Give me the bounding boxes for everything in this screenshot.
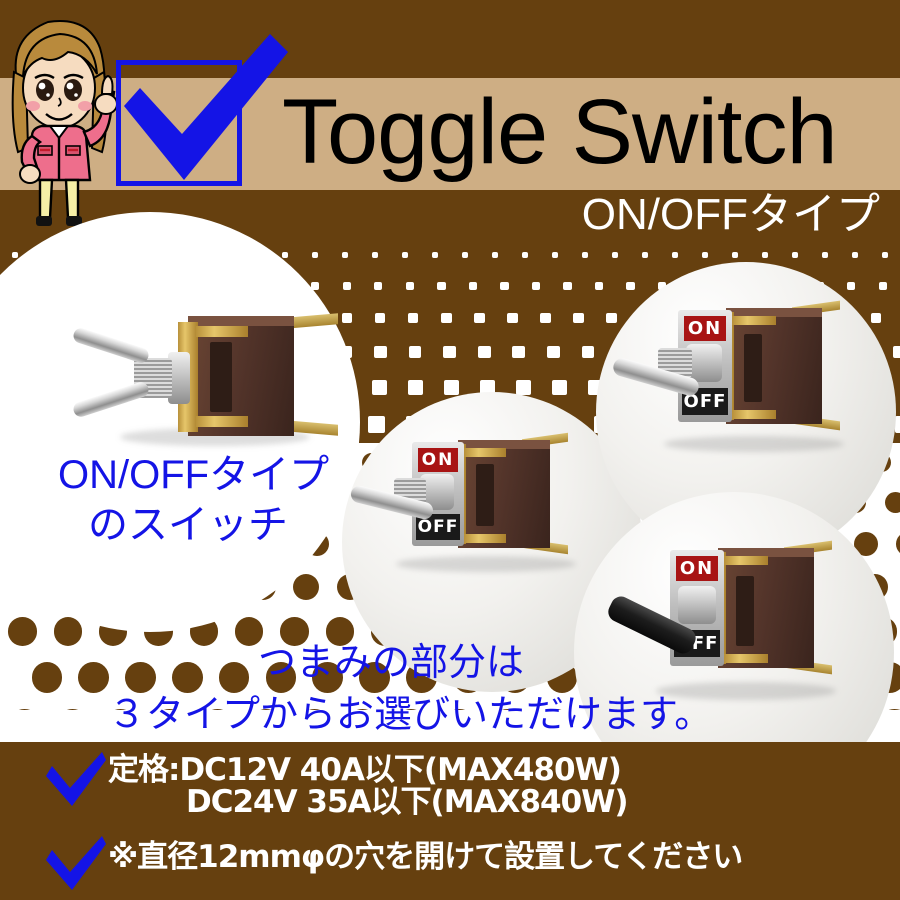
dot bbox=[500, 282, 508, 290]
dot bbox=[12, 252, 18, 258]
caption-mid-line1: つまみの部分は bbox=[258, 640, 524, 686]
switch-photo-pin-dual bbox=[60, 300, 340, 450]
dot bbox=[312, 252, 318, 258]
dot bbox=[408, 380, 423, 395]
dot bbox=[406, 282, 414, 290]
blue-check-icon bbox=[44, 752, 108, 808]
dot bbox=[563, 282, 571, 290]
dot bbox=[343, 282, 351, 290]
dot bbox=[573, 313, 583, 323]
dot bbox=[374, 282, 382, 290]
dot bbox=[219, 662, 250, 693]
dot bbox=[612, 252, 618, 258]
dot bbox=[374, 346, 387, 359]
dot bbox=[293, 574, 319, 600]
dot bbox=[432, 252, 438, 258]
dot bbox=[762, 252, 768, 258]
dot bbox=[8, 617, 36, 645]
blue-check-icon bbox=[44, 836, 108, 892]
dot bbox=[478, 346, 491, 359]
dot bbox=[672, 252, 678, 258]
caption-left-line2: のスイッチ bbox=[88, 502, 288, 548]
blue-check-icon bbox=[120, 30, 290, 190]
dot bbox=[540, 313, 550, 323]
dot bbox=[896, 532, 900, 556]
dot bbox=[78, 662, 109, 693]
dot bbox=[582, 252, 588, 258]
dot bbox=[822, 252, 828, 258]
dot bbox=[56, 709, 89, 710]
dot bbox=[516, 380, 531, 395]
dot bbox=[409, 346, 422, 359]
dot bbox=[732, 252, 738, 258]
dot bbox=[893, 346, 900, 359]
dot bbox=[408, 313, 418, 323]
dot bbox=[462, 252, 468, 258]
dot bbox=[372, 252, 378, 258]
dot bbox=[125, 662, 156, 693]
dot bbox=[444, 380, 459, 395]
page-subtitle: ON/OFFタイプ bbox=[400, 190, 880, 240]
dot bbox=[792, 252, 798, 258]
dot bbox=[626, 282, 634, 290]
dot bbox=[512, 346, 525, 359]
switch-photo-chrome-upper: ON OFF bbox=[636, 300, 886, 460]
dot bbox=[852, 252, 858, 258]
dot bbox=[547, 346, 560, 359]
dot bbox=[642, 252, 648, 258]
dot bbox=[532, 282, 540, 290]
dot bbox=[342, 252, 348, 258]
female-staff-character-icon bbox=[2, 12, 118, 240]
dot bbox=[885, 492, 900, 514]
spec-rating-line2: DC24V 35A以下(MAX840W) bbox=[186, 784, 628, 820]
dot bbox=[32, 662, 63, 693]
dot bbox=[507, 313, 517, 323]
dot bbox=[595, 282, 603, 290]
dot bbox=[474, 313, 484, 323]
dot bbox=[469, 282, 477, 290]
spec-rating-line1: 定格:DC12V 40A以下(MAX480W) bbox=[108, 752, 621, 788]
caption-left-line1: ON/OFFタイプ bbox=[58, 452, 329, 498]
dot bbox=[522, 252, 528, 258]
dot bbox=[282, 252, 288, 258]
dot bbox=[879, 282, 887, 290]
caption-mid-line2: ３タイプからお選びいただけます。 bbox=[108, 692, 712, 738]
advertisement-banner: Toggle Switch ON/OFFタイプ bbox=[0, 0, 900, 900]
dot bbox=[54, 617, 82, 645]
dot bbox=[702, 252, 708, 258]
dot bbox=[437, 282, 445, 290]
dot bbox=[372, 380, 387, 395]
dot bbox=[172, 662, 203, 693]
page-title: Toggle Switch bbox=[282, 72, 892, 192]
dot bbox=[847, 282, 855, 290]
switch-photo-chrome-middle: ON OFF bbox=[372, 430, 622, 580]
dot bbox=[342, 313, 352, 323]
switch-on-label: ON bbox=[676, 556, 718, 581]
dot bbox=[8, 709, 41, 710]
switch-on-label: ON bbox=[684, 316, 726, 341]
dot bbox=[582, 346, 595, 359]
dot bbox=[402, 252, 408, 258]
dot bbox=[441, 313, 451, 323]
spec-hole-note: ※直径12mmφの穴を開けて設置してください bbox=[108, 838, 742, 876]
dot bbox=[606, 313, 616, 323]
dot bbox=[375, 313, 385, 323]
switch-photo-black-paddle: ON OFF bbox=[616, 540, 876, 710]
dot bbox=[882, 252, 888, 258]
dot bbox=[552, 380, 567, 395]
switch-on-label: ON bbox=[418, 448, 458, 472]
dot bbox=[443, 346, 456, 359]
dot bbox=[492, 252, 498, 258]
dot bbox=[552, 252, 558, 258]
